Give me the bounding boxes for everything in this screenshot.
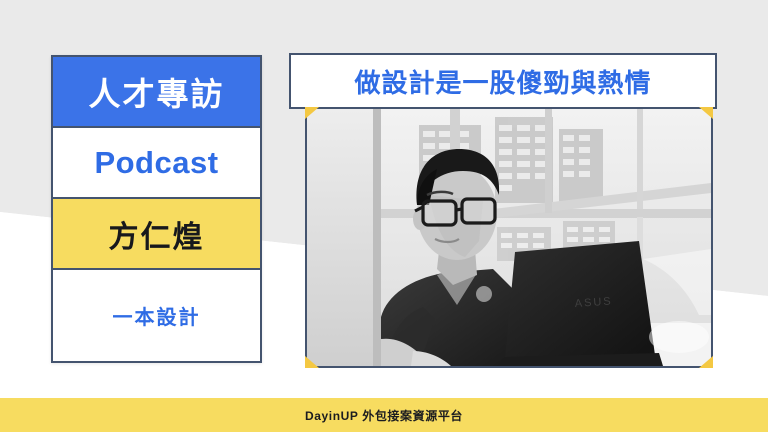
slide-canvas: 人才專訪 Podcast 方仁煌 一本設計	[0, 0, 768, 432]
company-label: 一本設計	[113, 301, 201, 330]
program-type-label: 人才專訪	[88, 69, 224, 115]
info-row-medium: Podcast	[53, 128, 260, 199]
info-row-company: 一本設計	[53, 270, 260, 361]
medium-label: Podcast	[94, 145, 218, 181]
guest-photo-frame: ASUS	[305, 107, 713, 368]
episode-title-text: 做設計是一股傻勁與熱情	[354, 63, 651, 100]
corner-accent-bottom-left-icon	[305, 356, 319, 368]
episode-title-banner: 做設計是一股傻勁與熱情	[289, 53, 717, 109]
guest-name-label: 方仁煌	[109, 212, 205, 256]
corner-accent-bottom-right-icon	[699, 356, 713, 368]
guest-photo: ASUS	[307, 109, 711, 366]
info-row-guest-name: 方仁煌	[53, 199, 260, 270]
footer-bar: DayinUP 外包接案資源平台	[0, 398, 768, 432]
corner-accent-top-right-icon	[699, 107, 713, 119]
info-row-program-type: 人才專訪	[53, 57, 260, 128]
guest-photo-illustration: ASUS	[307, 109, 711, 366]
info-card: 人才專訪 Podcast 方仁煌 一本設計	[51, 55, 262, 363]
footer-brand-text: DayinUP 外包接案資源平台	[305, 407, 463, 424]
corner-accent-top-left-icon	[305, 107, 319, 119]
